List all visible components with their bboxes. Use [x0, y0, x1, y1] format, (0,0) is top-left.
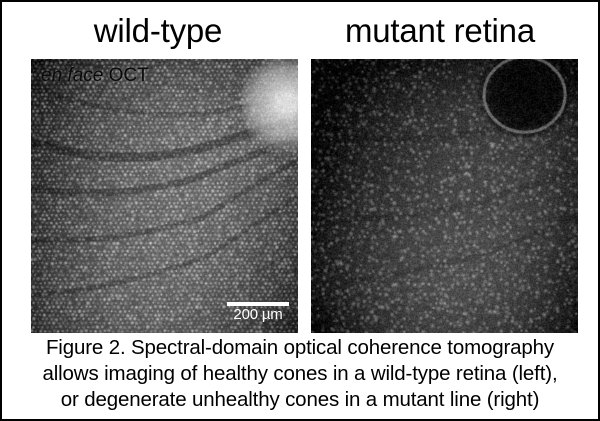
caption-line-1: Figure 2. Spectral-domain optical cohere… [4, 335, 596, 361]
figure-container: wild-type mutant retina en face OCT 200 … [0, 0, 600, 421]
caption-line-2: allows imaging of healthy cones in a wil… [4, 361, 596, 387]
scale-bar: 200 µm [226, 302, 290, 323]
scale-bar-label: 200 µm [226, 307, 290, 323]
panel-titles-row: wild-type mutant retina [2, 4, 598, 56]
oct-acronym: OCT [109, 65, 149, 86]
panel-title-mutant: mutant retina [304, 14, 576, 47]
panel-title-wildtype: wild-type [24, 14, 292, 47]
en-face-oct-label: en face OCT [41, 65, 149, 87]
oct-image-mutant-canvas [311, 59, 578, 333]
figure-caption: Figure 2. Spectral-domain optical cohere… [4, 335, 596, 413]
oct-image-wildtype-canvas [31, 59, 298, 333]
en-face-label-italic: en face [41, 65, 103, 86]
oct-image-wildtype: en face OCT 200 µm [31, 59, 298, 333]
caption-line-3: or degenerate unhealthy cones in a mutan… [4, 387, 596, 413]
oct-image-mutant [311, 59, 578, 333]
